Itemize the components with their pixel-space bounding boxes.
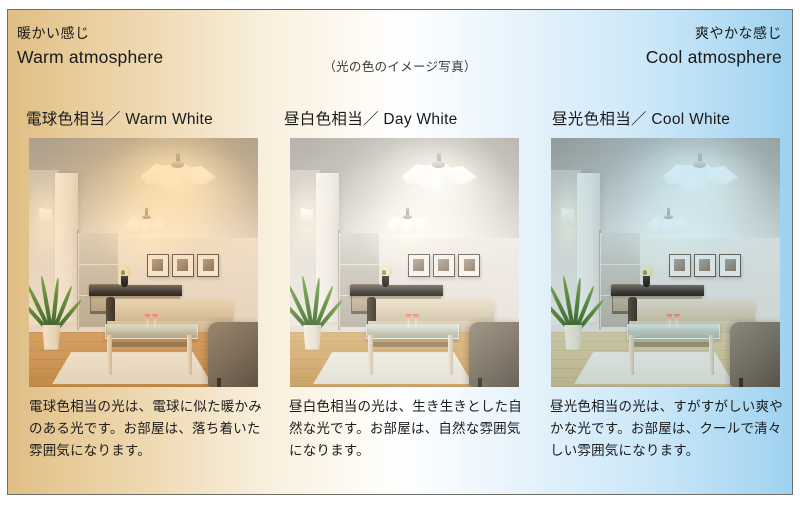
coffee-table-leg [187,335,192,375]
sofa-backrest [633,299,754,324]
wall-picture-frame [458,254,480,277]
column-day-white-description: 昼白色相当の光は、生き生きとした自然な光です。お部屋は、自然な雰囲気になります。 [276,396,528,462]
header: 暖かい感じ Warm atmosphere 爽やかな感じ Cool atmosp… [8,10,792,102]
wine-glasses [666,314,682,329]
flower-vase [121,276,128,286]
wine-glasses [144,314,160,329]
lighting-comparison-panel: 暖かい感じ Warm atmosphere 爽やかな感じ Cool atmosp… [7,9,793,495]
coffee-table-shelf [109,342,189,347]
column-cool-white-description: 昼光色相当の光は、すがすがしい爽やかな光です。お部屋は、クールで清々しい雰囲気に… [535,396,786,462]
photo-cool-white-room [551,138,780,387]
wall-picture-frame [147,254,169,277]
cool-atmosphere-label-jp: 爽やかな感じ [646,24,782,43]
armchair [730,322,780,387]
column-cool-white: 昼光色相当／ Cool White [535,102,787,462]
wall-picture-frame [197,254,219,277]
console-top [350,285,444,296]
coffee-table-leg [448,335,453,375]
console-top [611,285,705,296]
column-cool-white-title: 昼光色相当／ Cool White [535,102,787,138]
photo-day-white-room [290,138,519,387]
wall-sconce-icon [561,208,574,228]
warm-atmosphere-label-jp: 暖かい感じ [17,24,163,43]
column-warm-white-description: 電球色相当の光は、電球に似た暖かみのある光です。お部屋は、落ち着いた雰囲気になり… [16,396,268,462]
console-top [89,285,183,296]
armchair-leg [478,378,483,387]
coffee-table-leg [368,335,373,375]
coffee-table-leg [709,335,714,375]
flower-vase [382,276,389,286]
column-warm-white-title: 電球色相当／ Warm White [16,102,268,138]
wall-picture-frame [669,254,691,277]
secondary-ceiling-lamp-icon [645,208,693,238]
sofa-backrest [372,299,493,324]
secondary-ceiling-lamp-icon [384,208,432,238]
coffee-table-shelf [370,342,450,347]
flower-vase [643,276,650,286]
armchair-leg [739,378,744,387]
armchair [208,322,258,387]
sofa-backrest [111,299,232,324]
wine-glasses [405,314,421,329]
armchair-leg [217,378,222,387]
wall-picture-frame [694,254,716,277]
coffee-table-leg [107,335,112,375]
armchair [469,322,519,387]
wall-picture-frame [433,254,455,277]
image-disclaimer-note: （光の色のイメージ写真） [8,56,792,75]
secondary-ceiling-lamp-icon [123,208,171,238]
color-temperature-columns: 電球色相当／ Warm White [8,102,792,495]
photo-warm-white-room [29,138,258,387]
coffee-table-leg [629,335,634,375]
wall-picture-frame [408,254,430,277]
column-day-white: 昼白色相当／ Day White [276,102,528,462]
coffee-table-shelf [631,342,711,347]
column-warm-white: 電球色相当／ Warm White [16,102,268,462]
wall-picture-frame [172,254,194,277]
wall-picture-frame [719,254,741,277]
wall-sconce-icon [300,208,313,228]
column-day-white-title: 昼白色相当／ Day White [276,102,528,138]
wall-sconce-icon [39,208,52,228]
